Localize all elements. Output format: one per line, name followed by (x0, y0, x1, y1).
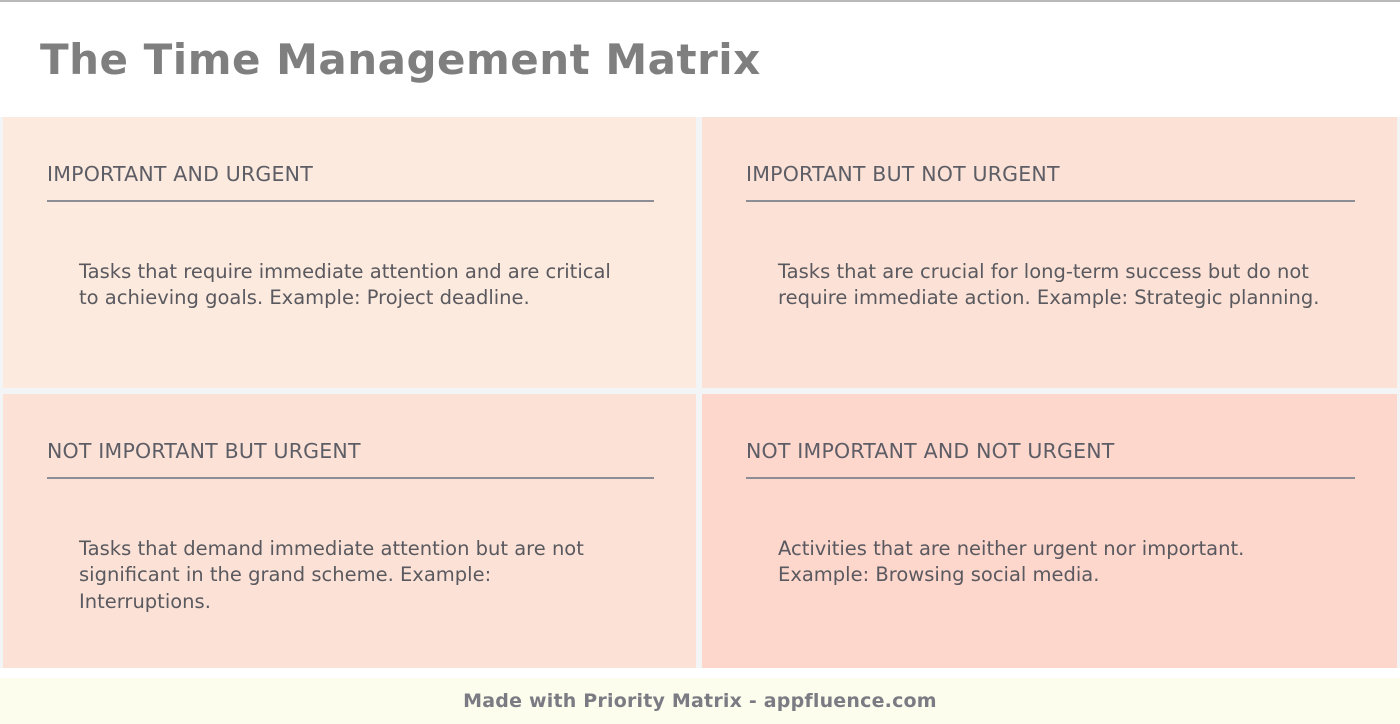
page-footer: Made with Priority Matrix - appfluence.c… (0, 678, 1400, 724)
quadrant-body-not-important-and-not-urgent: Activities that are neither urgent nor i… (746, 536, 1333, 589)
quadrant-not-important-but-urgent[interactable]: NOT IMPORTANT BUT URGENT Tasks that dema… (0, 391, 699, 668)
quadrant-not-important-and-not-urgent[interactable]: NOT IMPORTANT AND NOT URGENT Activities … (699, 391, 1400, 668)
quadrant-body-important-but-not-urgent: Tasks that are crucial for long-term suc… (746, 259, 1333, 312)
time-management-matrix-page: The Time Management Matrix IMPORTANT AND… (0, 0, 1400, 724)
quadrant-body-not-important-but-urgent: Tasks that demand immediate attention bu… (47, 536, 634, 616)
page-header: The Time Management Matrix (0, 2, 1400, 117)
quadrant-header-important-but-not-urgent: IMPORTANT BUT NOT URGENT (746, 163, 1355, 202)
footer-gap (0, 668, 1400, 678)
quadrant-header-not-important-and-not-urgent: NOT IMPORTANT AND NOT URGENT (746, 440, 1355, 479)
quadrant-surface: IMPORTANT BUT NOT URGENT Tasks that are … (702, 117, 1397, 388)
footer-attribution: Made with Priority Matrix - appfluence.c… (463, 690, 937, 712)
quadrant-important-but-not-urgent[interactable]: IMPORTANT BUT NOT URGENT Tasks that are … (699, 117, 1400, 391)
quadrant-important-and-urgent[interactable]: IMPORTANT AND URGENT Tasks that require … (0, 117, 699, 391)
quadrant-surface: NOT IMPORTANT BUT URGENT Tasks that dema… (3, 394, 696, 668)
quadrant-surface: IMPORTANT AND URGENT Tasks that require … (3, 117, 696, 388)
quadrant-header-not-important-but-urgent: NOT IMPORTANT BUT URGENT (47, 440, 654, 479)
quadrant-surface: NOT IMPORTANT AND NOT URGENT Activities … (702, 394, 1397, 668)
quadrant-body-important-and-urgent: Tasks that require immediate attention a… (47, 259, 634, 312)
page-title: The Time Management Matrix (40, 39, 761, 81)
quadrant-header-important-and-urgent: IMPORTANT AND URGENT (47, 163, 654, 202)
matrix-grid: IMPORTANT AND URGENT Tasks that require … (0, 117, 1400, 668)
